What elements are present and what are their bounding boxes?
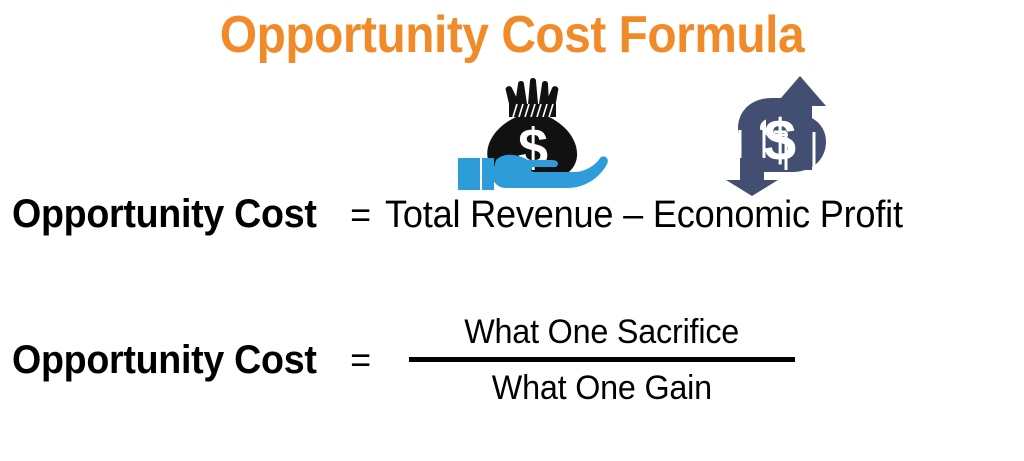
formula-2-fraction: What One Sacrifice What One Gain bbox=[409, 312, 795, 409]
formula-2-left-label: Opportunity Cost bbox=[12, 338, 317, 383]
formula-2-equals-sign: = bbox=[350, 339, 371, 381]
money-bag-in-hand-icon: $ bbox=[448, 78, 624, 194]
sleeve-cuff-inner bbox=[482, 158, 494, 190]
dollar-up-down-arrows-icon: $ bbox=[726, 72, 838, 198]
formula-1-right-expression: Total Revenue – Economic Profit bbox=[385, 194, 903, 237]
formula-line-2: Opportunity Cost = What One Sacrifice Wh… bbox=[12, 305, 1012, 415]
infographic-canvas: Opportunity Cost Formula bbox=[0, 0, 1024, 461]
dollar-up-down-arrows-graphic: $ bbox=[726, 72, 838, 198]
sleeve-cuff-outer bbox=[458, 158, 480, 190]
dollar-sign-glyph: $ bbox=[764, 108, 796, 173]
fraction-numerator: What One Sacrifice bbox=[465, 312, 740, 357]
money-bag-in-hand-graphic: $ bbox=[448, 78, 624, 194]
formula-line-1: Opportunity Cost = Total Revenue – Econo… bbox=[12, 192, 1012, 244]
formula-1-left-label: Opportunity Cost bbox=[12, 192, 317, 237]
bag-top-petals bbox=[506, 78, 559, 108]
formula-1-equals-sign: = bbox=[350, 194, 371, 236]
page-title: Opportunity Cost Formula bbox=[41, 8, 983, 63]
fraction-denominator: What One Gain bbox=[492, 362, 712, 409]
